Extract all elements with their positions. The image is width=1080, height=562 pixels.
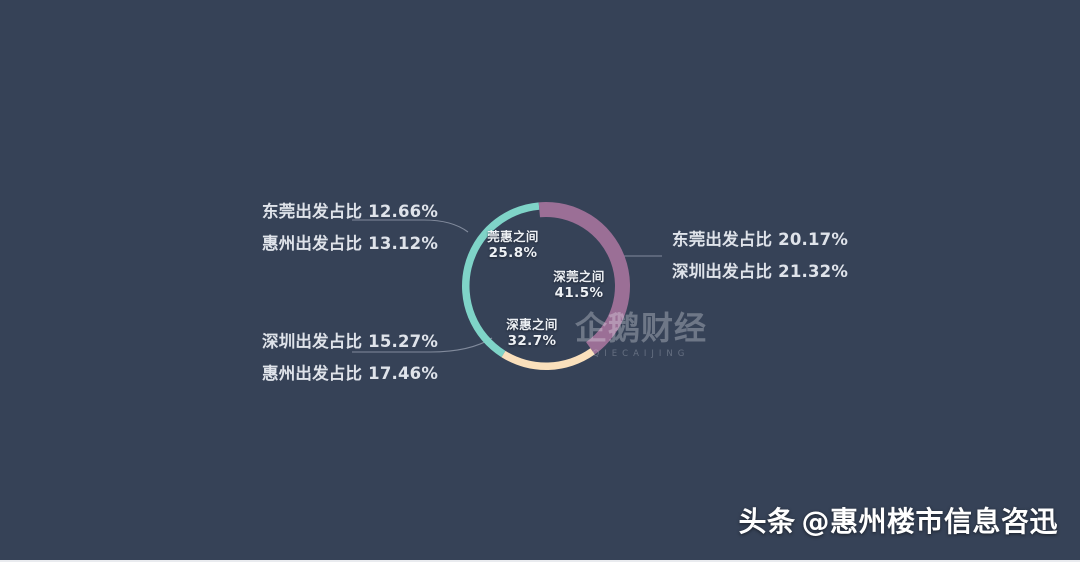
callout-bottom-left-line2: 惠州出发占比 17.46% [262,358,438,390]
callout-bottom-left-line1: 深圳出发占比 15.27% [262,326,438,358]
donut-segment-shenhui[interactable] [501,348,594,370]
donut-segment-guanhui[interactable] [462,202,539,357]
callout-top-left-line1: 东莞出发占比 12.66% [262,196,438,228]
callout-right: 东莞出发占比 20.17% 深圳出发占比 21.32% [672,224,848,288]
callout-top-left: 东莞出发占比 12.66% 惠州出发占比 13.12% [262,196,438,260]
bottom-watermark-account: @惠州楼市信息咨迅 [801,505,1058,538]
bottom-watermark-platform: 头条 [738,505,795,538]
donut-chart-svg [440,180,652,392]
bottom-watermark: 头条@惠州楼市信息咨迅 [738,500,1058,540]
donut-segment-shenguan[interactable] [539,202,630,354]
chart-canvas: 莞惠之间 25.8% 深莞之间 41.5% 深惠之间 32.7% 东莞出发占比 … [0,0,1080,562]
callout-right-line2: 深圳出发占比 21.32% [672,256,848,288]
callout-right-line1: 东莞出发占比 20.17% [672,224,848,256]
callout-bottom-left: 深圳出发占比 15.27% 惠州出发占比 17.46% [262,326,438,390]
callout-top-left-line2: 惠州出发占比 13.12% [262,228,438,260]
donut-chart [440,180,652,392]
